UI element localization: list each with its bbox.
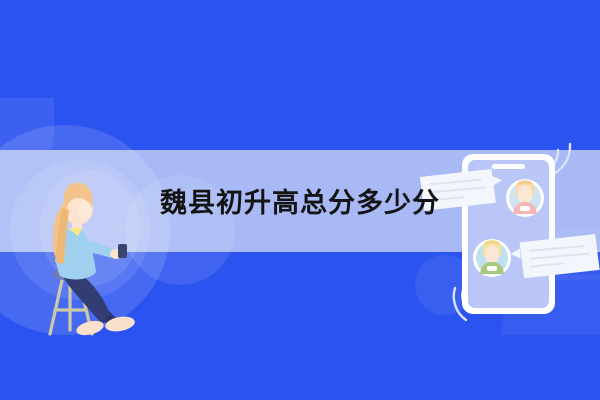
banner-title: 魏县初升高总分多少分	[0, 185, 600, 223]
avatar-bottom	[473, 239, 511, 277]
earpiece-speaker-icon	[492, 164, 525, 169]
banner-image: 魏县初升高总分多少分	[0, 0, 600, 400]
smartphone-chat-illustration	[415, 112, 600, 352]
